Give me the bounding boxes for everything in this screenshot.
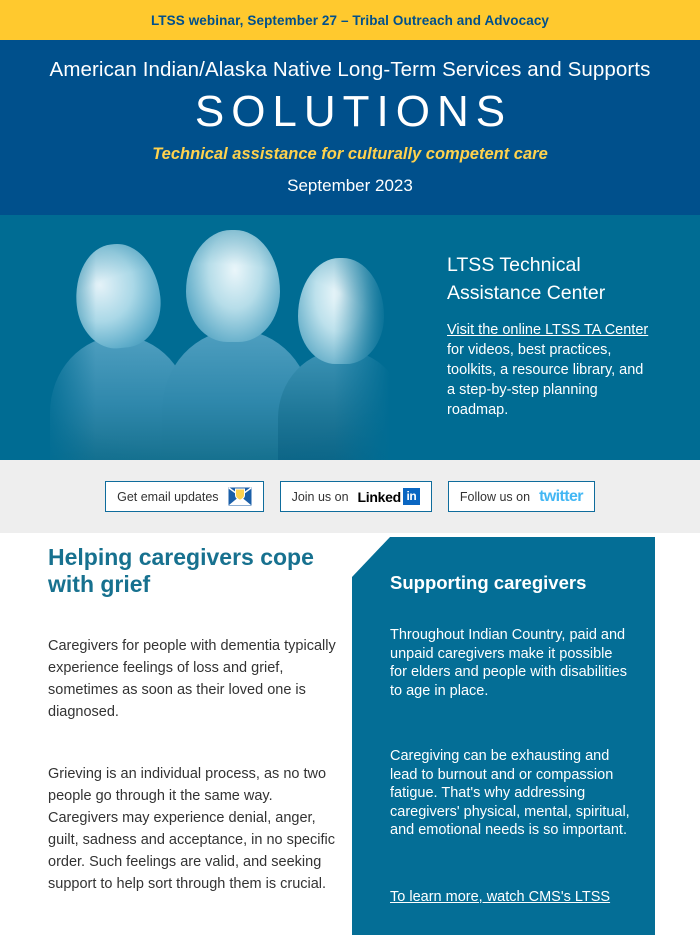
get-email-updates-button[interactable]: Get email updates [105, 481, 263, 512]
linkedin-label: Join us on [292, 490, 349, 504]
article-left-column: Helping caregivers cope with grief Careg… [48, 544, 338, 895]
portrait-body [162, 330, 312, 460]
supporting-caregivers-panel: Supporting caregivers Throughout Indian … [352, 537, 655, 935]
portrait-head [298, 258, 384, 364]
article-paragraph-2: Grieving is an individual process, as no… [48, 763, 338, 895]
linkedin-icon: Linked in [358, 488, 420, 505]
hero-body-text: Visit the online LTSS TA Center for vide… [447, 320, 652, 420]
side-panel-paragraph-1: Throughout Indian Country, paid and unpa… [390, 626, 631, 700]
masthead-kicker: American Indian/Alaska Native Long-Term … [0, 56, 700, 84]
masthead-tagline: Technical assistance for culturally comp… [0, 142, 700, 166]
portrait-elder-profile [50, 230, 190, 460]
portrait-woman-right [278, 245, 390, 460]
webinar-announcement-bar[interactable]: LTSS webinar, September 27 – Tribal Outr… [0, 0, 700, 40]
webinar-announcement-text: LTSS webinar, September 27 – Tribal Outr… [151, 13, 549, 28]
linkedin-badge: in [403, 488, 420, 505]
elders-photo-montage [40, 215, 390, 460]
supporting-caregivers-content: Supporting caregivers Throughout Indian … [352, 537, 655, 906]
newsletter-page: LTSS webinar, September 27 – Tribal Outr… [0, 0, 700, 935]
social-links-strip: Get email updates Join us on Linked in F… [0, 460, 700, 533]
article-heading: Helping caregivers cope with grief [48, 544, 338, 598]
hero-title: LTSS Technical Assistance Center [447, 251, 652, 307]
linkedin-wordmark: Linked [358, 490, 401, 504]
side-panel-paragraph-2: Caregiving can be exhausting and lead to… [390, 747, 631, 840]
portrait-head [71, 240, 165, 352]
portrait-head [186, 230, 280, 342]
ltss-ta-center-link[interactable]: Visit the online LTSS TA Center [447, 322, 648, 338]
hero-body-remainder: for videos, best practices, toolkits, a … [447, 342, 643, 418]
masthead-wordmark: SOLUTIONS [0, 86, 700, 138]
portrait-elder-center [160, 215, 310, 460]
masthead: American Indian/Alaska Native Long-Term … [0, 40, 700, 215]
article-paragraph-1: Caregivers for people with dementia typi… [48, 635, 338, 723]
hero-title-line-1: LTSS Technical [447, 254, 581, 276]
twitter-icon: twitter [539, 489, 583, 505]
twitter-label: Follow us on [460, 490, 530, 504]
linkedin-button[interactable]: Join us on Linked in [280, 481, 432, 512]
portrait-body [278, 350, 390, 460]
hero-band: LTSS Technical Assistance Center Visit t… [0, 215, 700, 460]
envelope-icon [228, 487, 252, 506]
hero-copy: LTSS Technical Assistance Center Visit t… [447, 251, 652, 420]
side-panel-heading: Supporting caregivers [390, 571, 631, 595]
twitter-button[interactable]: Follow us on twitter [448, 481, 595, 512]
portrait-body [50, 336, 190, 460]
get-email-updates-label: Get email updates [117, 490, 218, 504]
cms-ltss-video-link[interactable]: To learn more, watch CMS's LTSS [390, 888, 631, 907]
masthead-issue-date: September 2023 [0, 174, 700, 198]
hero-title-line-2: Assistance Center [447, 282, 605, 304]
